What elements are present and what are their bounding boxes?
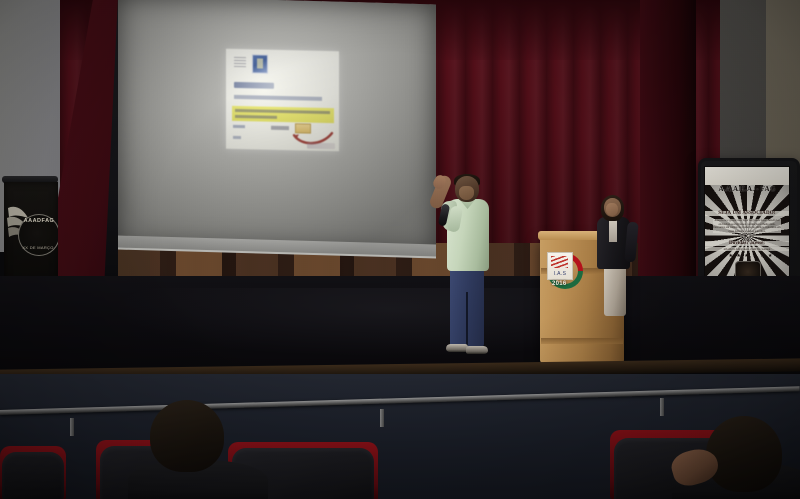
presenter-leg-separation xyxy=(466,292,468,348)
left-banner-subtitle: XX DE MARÇO xyxy=(18,245,58,250)
presenter-face xyxy=(459,186,474,200)
poster-subtitle: SEJA UM ASSOCIADO! xyxy=(705,211,789,216)
podium-logo-acronym: I.A.S xyxy=(550,271,570,277)
podium-band-lower xyxy=(541,338,623,344)
audience-member-left-head xyxy=(150,400,224,472)
slide-watermark xyxy=(307,143,335,150)
slide-footer-text xyxy=(233,136,241,139)
poster-link-text: atletica.blog.aea.com.br/aaaea xyxy=(705,247,789,251)
slide-highlight-band xyxy=(232,106,334,123)
presenter-shoe-left xyxy=(446,344,468,352)
presenter-shoe-right xyxy=(466,346,488,354)
slide-field-value xyxy=(271,126,289,130)
slide-logo-icon xyxy=(252,54,268,73)
moderator-shirt xyxy=(609,220,617,242)
poster-top-band xyxy=(705,167,789,185)
slide-field-label xyxy=(233,125,245,128)
handrail-post-mid xyxy=(380,409,384,427)
slide-title-text xyxy=(234,82,274,89)
moderator-face xyxy=(606,203,618,216)
poster-stars: ★ ★ ★ ★ ★ ★ ★ xyxy=(705,253,789,259)
moderator-legs xyxy=(604,266,626,316)
slide-highlight-line-1 xyxy=(235,109,330,114)
podium-logo-mark xyxy=(551,256,568,268)
auditorium-photo: AAADFAG XX DE MARÇO A.A.A.E.A. - FAG SEJ… xyxy=(0,0,800,499)
poster-title: A.A.A.E.A. - FAG xyxy=(705,185,789,193)
handrail-post-left xyxy=(70,418,74,436)
poster-cta-text: Dúvidas? acesse: xyxy=(705,241,789,246)
poster-body-text: Associe-se e garanta seu lugar na grande… xyxy=(713,219,781,233)
slide-body-text xyxy=(234,95,322,100)
slide-highlight-line-2 xyxy=(235,115,277,119)
handrail-post-right xyxy=(660,398,664,416)
audience-member-right-head xyxy=(706,416,782,492)
podium-logo-badge: I.A.S xyxy=(547,252,573,280)
slide-institution-text xyxy=(234,57,246,69)
left-banner-pole xyxy=(2,176,58,183)
projected-slide xyxy=(226,49,339,152)
left-banner-acronym: AAADFAG xyxy=(20,218,58,224)
seat-1 xyxy=(2,452,64,499)
podium-logo-year: 2016 xyxy=(552,281,567,287)
